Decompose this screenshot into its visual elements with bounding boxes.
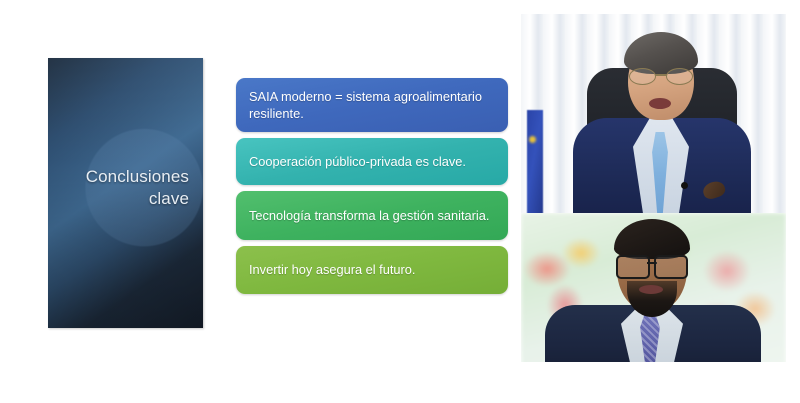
speaker-bottom-mouth [639,285,663,294]
bullet-box-3-label: Tecnología transforma la gestión sanitar… [249,207,496,224]
eyeglasses-right-lens [654,255,688,279]
title-panel: Conclusiones clave [48,58,203,328]
bullet-box-2-label: Cooperación público-privada es clave. [249,153,496,170]
eyeglasses-right-lens [666,68,693,85]
bullet-list: SAIA moderno = sistema agroalimentario r… [236,78,508,300]
bullet-box-4-label: Invertir hoy asegura el futuro. [249,261,496,278]
lapel-mic-icon [681,182,688,189]
flag-icon [527,110,543,213]
bullet-box-2[interactable]: Cooperación público-privada es clave. [236,138,508,185]
slide-stage: Conclusiones clave SAIA moderno = sistem… [0,0,800,403]
bullet-box-4[interactable]: Invertir hoy asegura el futuro. [236,246,508,294]
video-panel [521,14,786,376]
speaker-top-mouth [649,98,671,109]
eyeglasses-icon [616,255,688,275]
speaker-video-bottom[interactable] [521,213,786,376]
bullet-box-1-label: SAIA moderno = sistema agroalimentario r… [249,88,496,123]
page-title: Conclusiones clave [60,166,189,211]
video-bottom-letterbox [521,362,786,376]
eyeglasses-left-lens [629,68,656,85]
eyeglasses-icon [628,68,694,83]
speaker-video-top[interactable] [521,14,786,213]
bullet-box-1[interactable]: SAIA moderno = sistema agroalimentario r… [236,78,508,132]
flag-star-icon [529,136,536,143]
bullet-box-3[interactable]: Tecnología transforma la gestión sanitar… [236,191,508,240]
eyeglasses-left-lens [616,255,650,279]
